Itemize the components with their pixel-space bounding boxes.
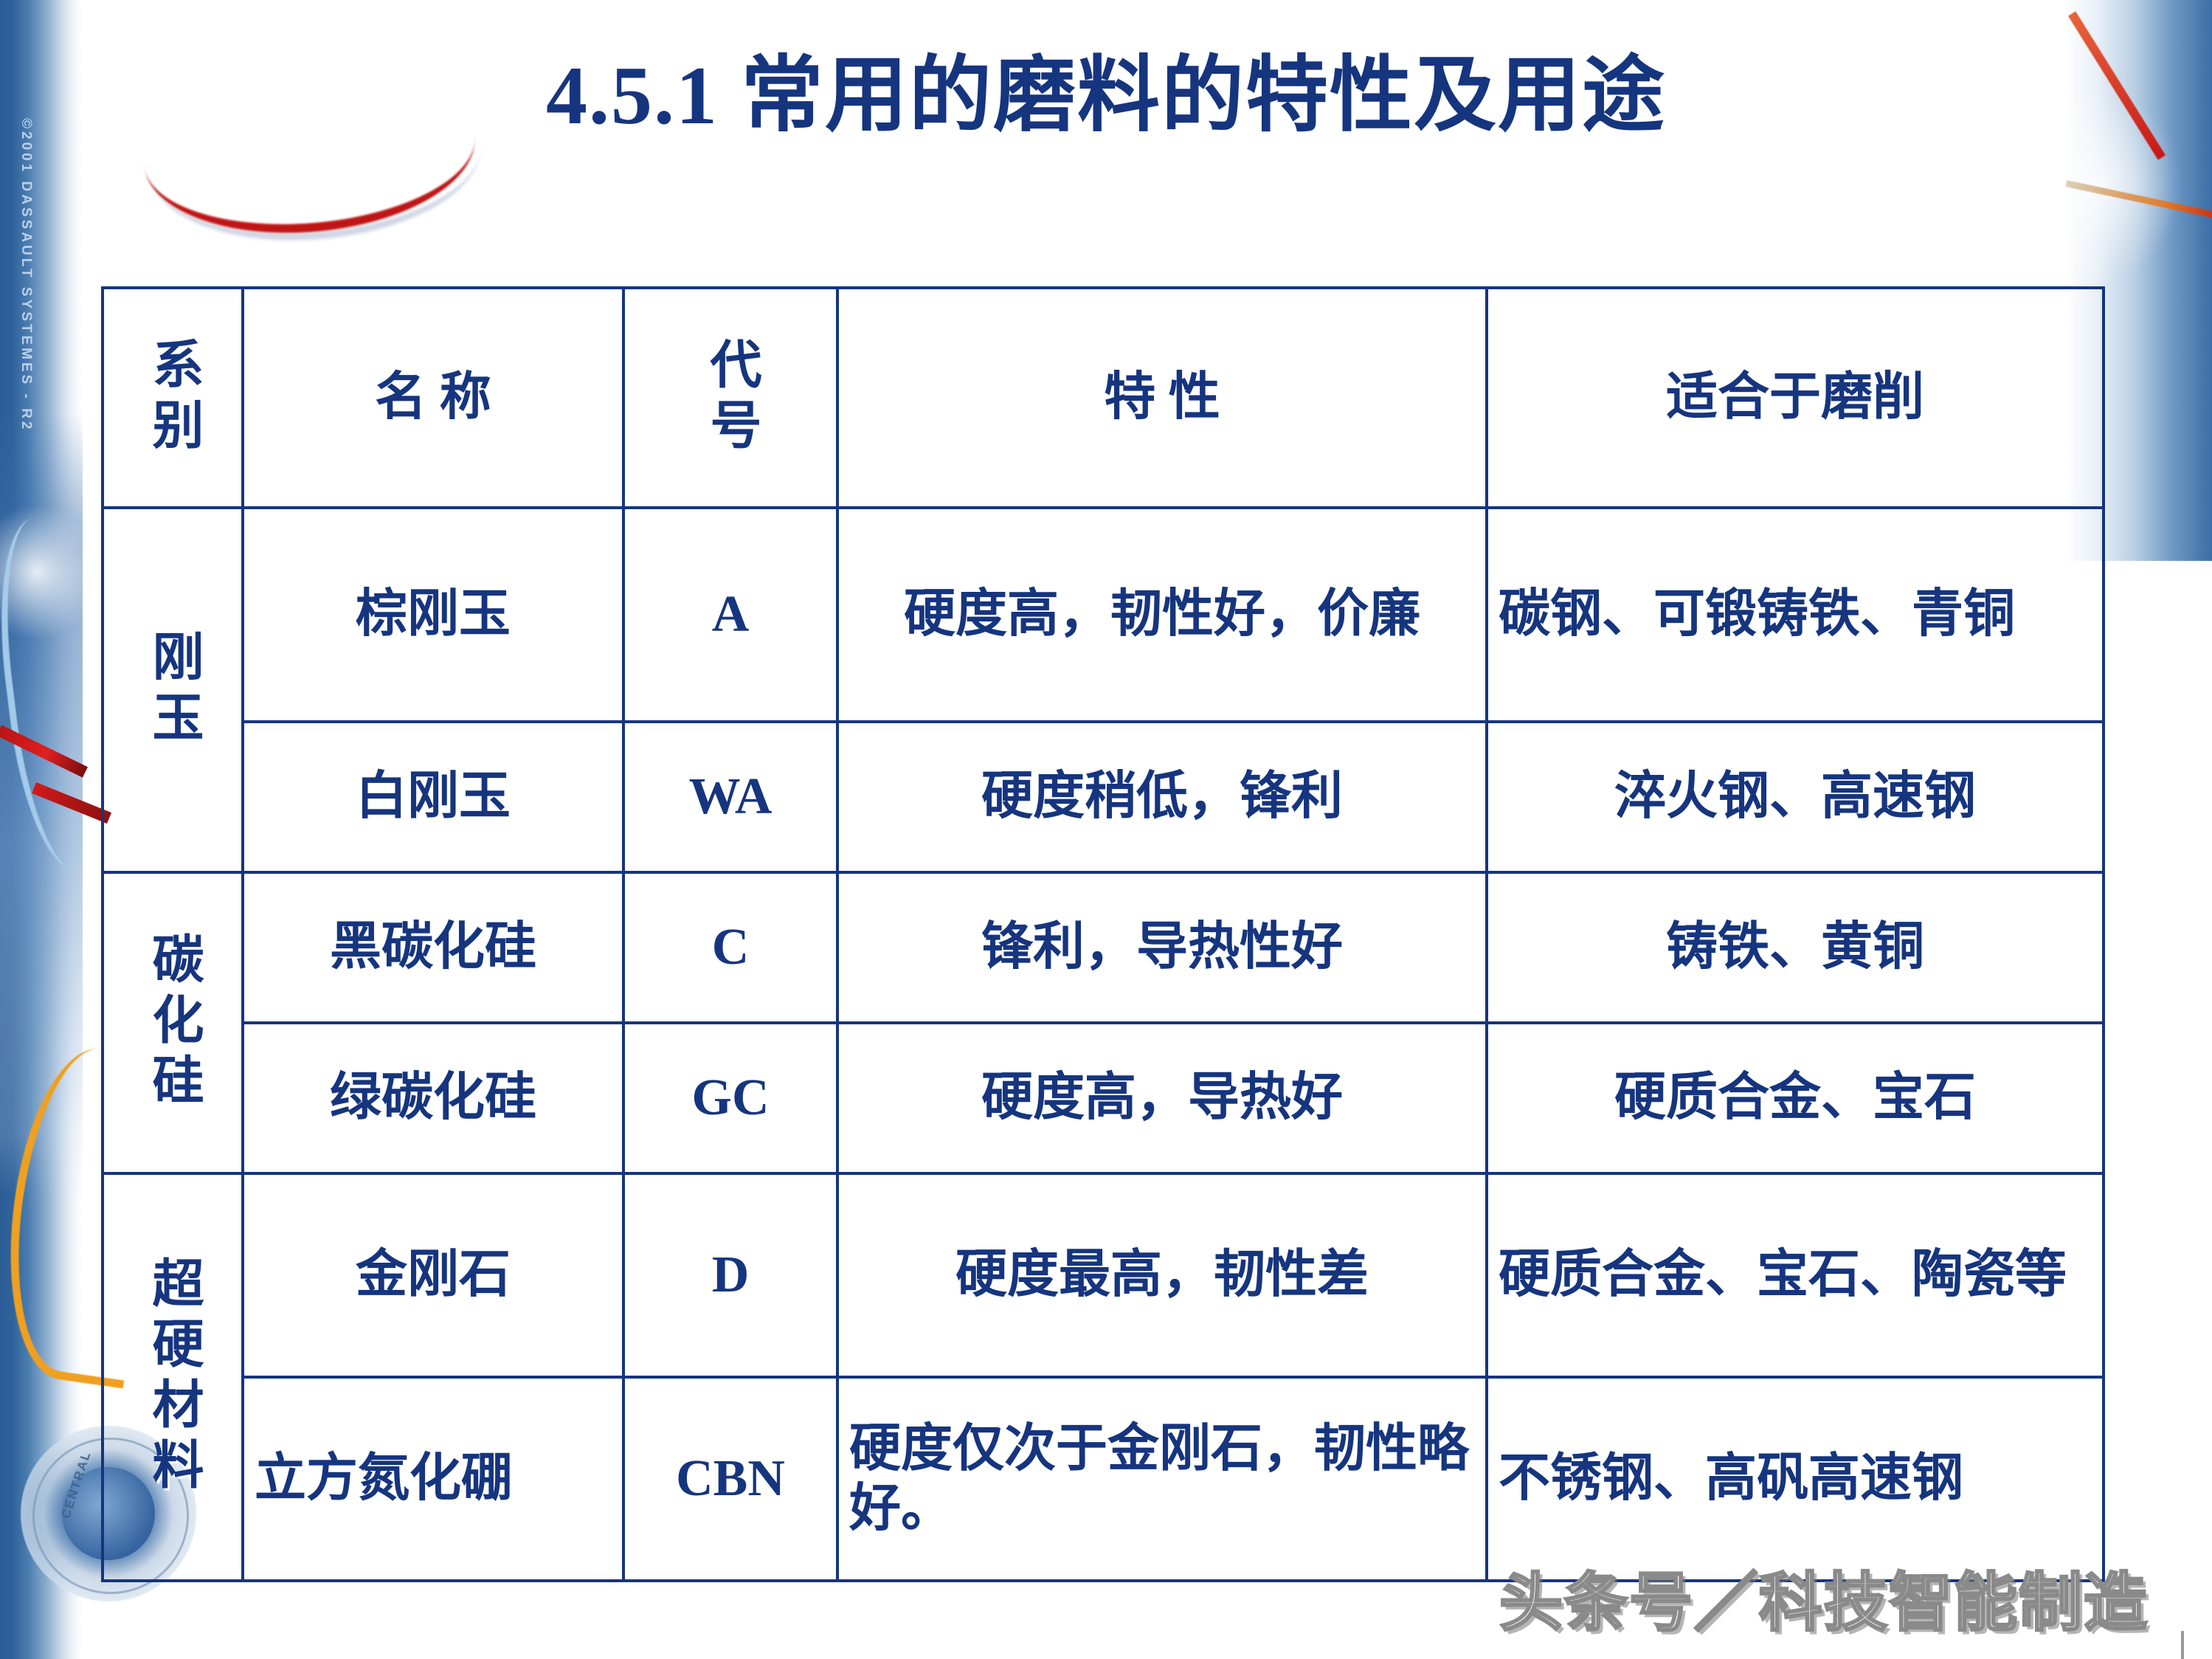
cell-characteristics: 硬度最高，韧性差 <box>837 1173 1487 1377</box>
cell-characteristics: 硬度高，韧性好，价廉 <box>837 508 1487 722</box>
table-row: 超硬材料 金刚石 D 硬度最高，韧性差 硬质合金、宝石、陶瓷等 <box>103 1173 2104 1377</box>
group-series-label: 刚玉 <box>145 622 200 758</box>
cell-name: 金刚石 <box>243 1173 623 1377</box>
cell-name: 黑碳化硅 <box>243 872 623 1023</box>
cell-code: C <box>623 872 837 1023</box>
table-row: 绿碳化硅 GC 硬度高，导热好 硬质合金、宝石 <box>103 1023 2104 1173</box>
cell-name: 立方氮化硼 <box>243 1377 623 1581</box>
cell-suitable: 硬质合金、宝石、陶瓷等 <box>1487 1173 2104 1377</box>
group-series-cell: 超硬材料 <box>103 1173 243 1581</box>
cell-code: CBN <box>623 1377 837 1581</box>
cell-characteristics: 硬度稍低，锋利 <box>837 722 1487 872</box>
header-suitable: 适合于磨削 <box>1487 288 2104 508</box>
header-characteristics: 特 性 <box>837 288 1487 508</box>
group-series-label: 碳化硅 <box>145 925 200 1121</box>
cell-suitable: 硬质合金、宝石 <box>1487 1023 2104 1173</box>
header-name: 名 称 <box>243 288 623 508</box>
abrasive-properties-table: 系别 名 称 代号 特 性 适合于磨削 刚玉 棕刚玉 A <box>101 286 2105 1582</box>
cell-suitable: 淬火钢、高速钢 <box>1487 722 2104 872</box>
group-series-cell: 刚玉 <box>103 508 243 872</box>
page-title: 4.5.1 常用的磨料的特性及用途 <box>0 28 2212 148</box>
cell-name: 白刚玉 <box>243 722 623 872</box>
cell-code: A <box>623 508 837 722</box>
table-row: 刚玉 棕刚玉 A 硬度高，韧性好，价廉 碳钢、可锻铸铁、青铜 <box>103 508 2104 722</box>
header-code-label: 代号 <box>703 330 758 466</box>
header-code: 代号 <box>623 288 837 508</box>
slide-canvas: ©2001 DASSAULT SYSTEMES - R2 CENTRAL 4.5… <box>0 0 2212 1659</box>
table-row: 白刚玉 WA 硬度稍低，锋利 淬火钢、高速钢 <box>103 722 2104 872</box>
header-series: 系别 <box>103 288 243 508</box>
table-row: 碳化硅 黑碳化硅 C 锋利，导热性好 铸铁、黄铜 <box>103 872 2104 1023</box>
cell-code: D <box>623 1173 837 1377</box>
header-series-label: 系别 <box>145 330 200 466</box>
text-caret-mark <box>2181 1631 2184 1659</box>
cell-characteristics: 硬度高，导热好 <box>837 1023 1487 1173</box>
cell-code: WA <box>623 722 837 872</box>
table-header-row: 系别 名 称 代号 特 性 适合于磨削 <box>103 288 2104 508</box>
group-series-label: 超硬材料 <box>145 1249 200 1505</box>
cell-characteristics: 锋利，导热性好 <box>837 872 1487 1023</box>
cell-name: 棕刚玉 <box>243 508 623 722</box>
abrasive-table-wrapper: 系别 名 称 代号 特 性 适合于磨削 刚玉 棕刚玉 A <box>101 286 2102 1582</box>
dassault-side-watermark: ©2001 DASSAULT SYSTEMES - R2 <box>18 118 34 458</box>
cell-code: GC <box>623 1023 837 1173</box>
bottom-watermark: 头条号／科技智能制造 <box>1499 1551 2149 1643</box>
cell-name: 绿碳化硅 <box>243 1023 623 1173</box>
cell-suitable: 碳钢、可锻铸铁、青铜 <box>1487 508 2104 722</box>
cell-characteristics: 硬度仅次于金刚石，韧性略好。 <box>837 1377 1487 1581</box>
cell-suitable: 铸铁、黄铜 <box>1487 872 2104 1023</box>
group-series-cell: 碳化硅 <box>103 872 243 1173</box>
